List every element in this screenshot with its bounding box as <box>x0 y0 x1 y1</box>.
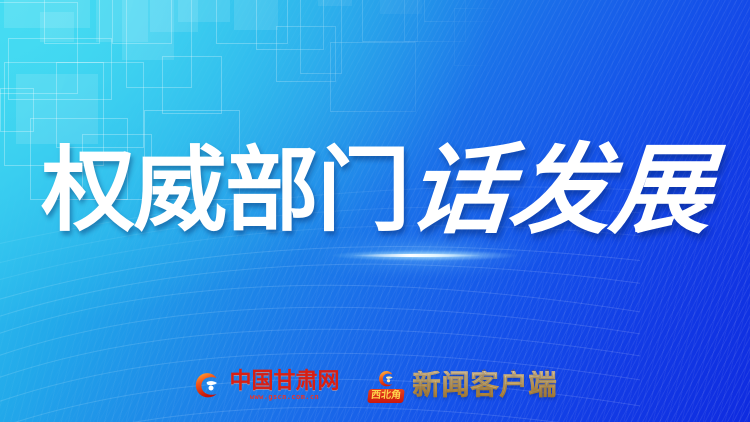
xibeijiao-app-logo[interactable]: 西北角 新闻客户端 <box>366 369 558 403</box>
xibeijiao-swirl-icon <box>375 369 397 388</box>
promo-banner: 权威部门 话发展 <box>0 0 750 422</box>
gscn-text-block: 中国甘肃网 www.gscn.com.cn <box>229 370 339 401</box>
gscn-swirl-icon <box>192 370 222 400</box>
light-flare <box>330 250 520 261</box>
gscn-logo[interactable]: 中国甘肃网 www.gscn.com.cn <box>192 370 339 401</box>
xibeijiao-name: 西北角 <box>367 389 404 403</box>
banner-title: 权威部门 话发展 <box>0 142 750 240</box>
app-name-label: 新闻客户端 <box>413 371 558 399</box>
title-bold-part: 权威部门 <box>42 145 409 237</box>
diagonal-line-texture-secondary <box>0 0 750 422</box>
xibeijiao-badge: 西北角 <box>366 369 406 403</box>
gscn-site-url: www.gscn.com.cn <box>250 394 319 401</box>
light-flare-glow <box>300 232 550 278</box>
diagonal-line-texture-primary <box>0 0 750 422</box>
light-flare-core <box>352 254 482 257</box>
gscn-site-name: 中国甘肃网 <box>229 370 339 392</box>
translucent-squares-decoration <box>0 0 520 220</box>
footer-logo-bar: 中国甘肃网 www.gscn.com.cn <box>0 369 750 403</box>
title-brush-part: 话发展 <box>404 142 714 240</box>
